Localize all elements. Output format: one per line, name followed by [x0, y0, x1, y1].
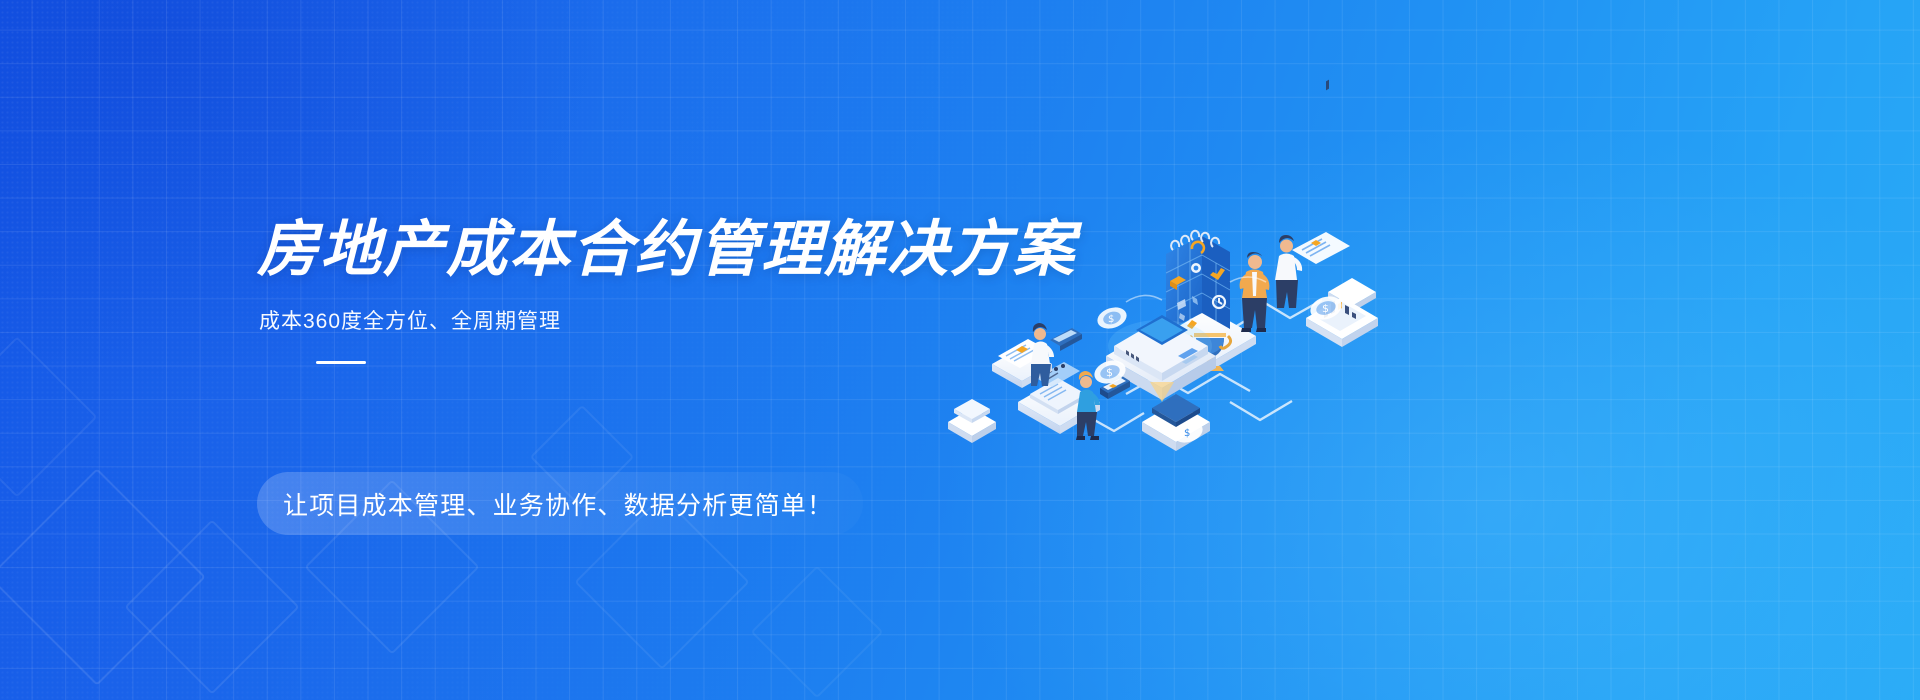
person-icon — [1275, 235, 1302, 308]
accent-divider — [316, 361, 366, 364]
person-icon — [1240, 252, 1270, 332]
decor-rotated-square — [0, 336, 98, 497]
svg-text:$: $ — [1322, 302, 1329, 315]
svg-text:$: $ — [1108, 314, 1114, 325]
svg-text:$: $ — [1106, 366, 1113, 379]
isometric-illustration: $ $ $ $ — [930, 150, 1400, 450]
hero-copy-block: 房地产成本合约管理解决方案 成本360度全方位、全周期管理 — [257, 218, 1017, 364]
tagline-text: 让项目成本管理、业务协作、数据分析更简单！ — [283, 486, 833, 522]
decor-rotated-square — [0, 468, 206, 686]
svg-text:$: $ — [1184, 428, 1190, 439]
page-subtitle: 成本360度全方位、全周期管理 — [259, 305, 1017, 335]
hero-banner: 房地产成本合约管理解决方案 成本360度全方位、全周期管理 让项目成本管理、业务… — [0, 0, 1920, 700]
decor-rotated-square — [751, 566, 884, 699]
tagline-pill: 让项目成本管理、业务协作、数据分析更简单！ — [257, 472, 863, 535]
document-icon — [1292, 232, 1350, 264]
cube-icon — [1142, 394, 1210, 451]
page-title: 房地产成本合约管理解决方案 — [257, 218, 1017, 281]
decor-rotated-square — [124, 519, 299, 694]
laptop-icon — [1050, 328, 1082, 351]
cube-icon — [948, 399, 996, 443]
